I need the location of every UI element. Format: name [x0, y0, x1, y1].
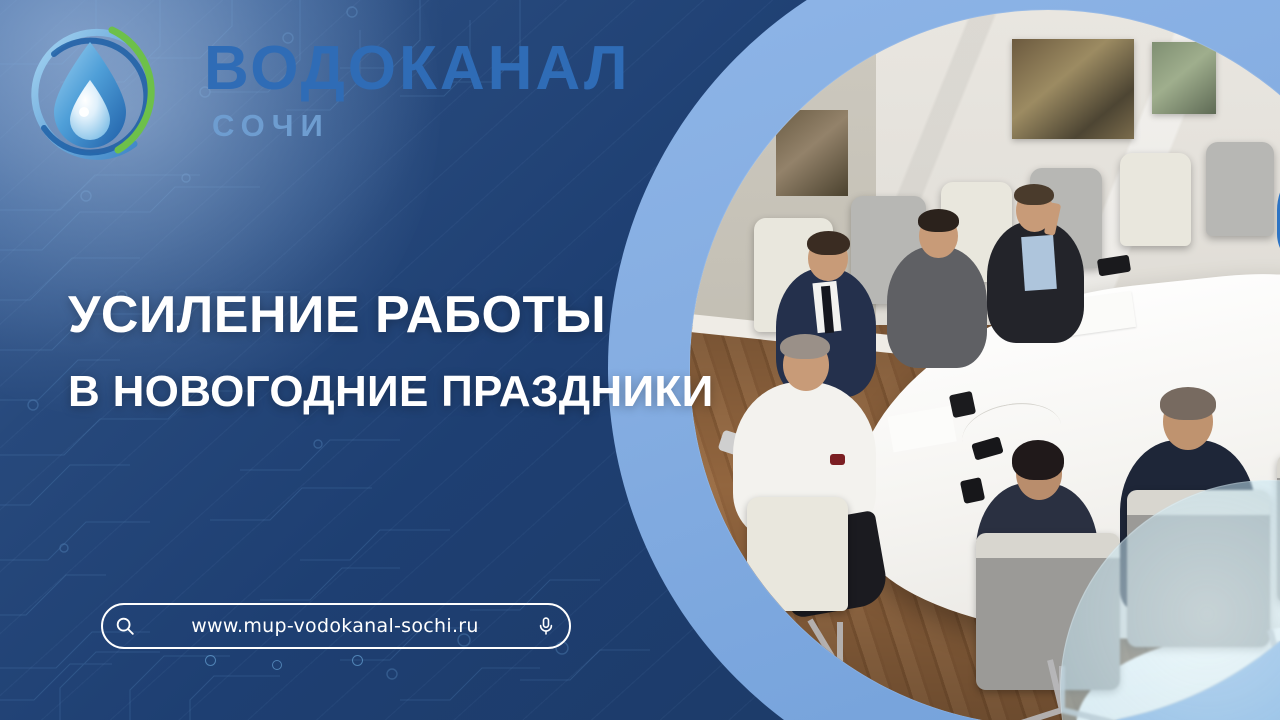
circuit-dot-2: [272, 660, 282, 670]
headline-line-2: В НОВОГОДНИЕ ПРАЗДНИКИ: [68, 369, 708, 415]
circuit-dot-3: [352, 655, 363, 666]
headline-line-1: УСИЛЕНИЕ РАБОТЫ: [68, 288, 708, 343]
circuit-dot-1: [205, 655, 216, 666]
microphone-icon[interactable]: [523, 615, 569, 637]
logo-text: ВОДОКАНАЛ СОЧИ: [204, 38, 630, 141]
water-drop-icon: [14, 18, 166, 170]
logo[interactable]: ВОДОКАНАЛ СОЧИ: [14, 12, 554, 172]
headline: УСИЛЕНИЕ РАБОТЫ В НОВОГОДНИЕ ПРАЗДНИКИ: [68, 288, 708, 415]
website-url[interactable]: www.mup-vodokanal-sochi.ru: [147, 615, 523, 637]
brand-city: СОЧИ: [212, 110, 630, 141]
brand-name: ВОДОКАНАЛ: [204, 38, 630, 100]
meeting-photo: [690, 10, 1280, 720]
search-bar[interactable]: www.mup-vodokanal-sochi.ru: [101, 603, 571, 649]
chair-bases: [690, 10, 1280, 720]
meeting-photo-image: [690, 10, 1280, 720]
search-icon[interactable]: [103, 615, 147, 637]
poster-canvas: ВОДОКАНАЛ СОЧИ УСИЛЕНИЕ РАБОТЫ В НОВОГОД…: [0, 0, 1280, 720]
